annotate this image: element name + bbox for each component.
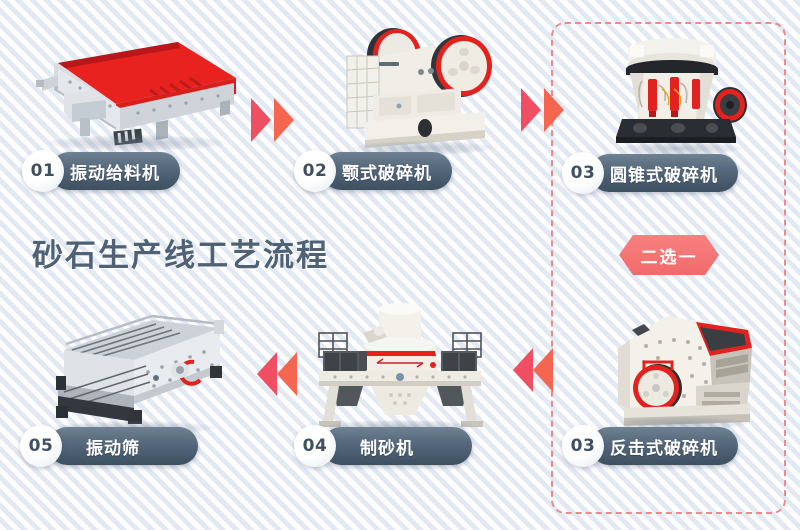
step-label-03-impact[interactable]: 03 › 反击式破碎机 <box>562 427 738 465</box>
step-label-text: 制砂机 <box>360 434 414 459</box>
vibrating-feeder-illustration <box>28 18 243 153</box>
arrow-sand-to-screen <box>257 352 300 396</box>
chevron-left-icon <box>257 352 277 396</box>
chevron-right-icon <box>521 88 541 132</box>
step-label-text: 振动筛 <box>86 434 140 459</box>
chevron-right-icon <box>544 88 564 132</box>
step-label-plate[interactable]: › 振动筛 <box>48 427 198 465</box>
flow-diagram-canvas: 01 › 振动给料机 02 › 颚式破碎机 03 › 圆锥式破碎机 03 › 反… <box>0 0 800 530</box>
chevron-left-icon <box>277 352 297 396</box>
machine-shadow <box>46 135 226 151</box>
step-label-plate[interactable]: › 圆锥式破碎机 <box>590 154 738 192</box>
step-label-text: 圆锥式破碎机 <box>610 161 718 186</box>
step-number-badge: 04 <box>294 425 336 467</box>
step-label-03-cone[interactable]: 03 › 圆锥式破碎机 <box>562 154 738 192</box>
sand-making-machine-illustration <box>305 303 495 433</box>
vibrating-screen-illustration <box>30 310 235 435</box>
machine-vibrating-screen <box>30 310 235 435</box>
page-title: 砂石生产线工艺流程 <box>32 230 329 275</box>
step-number-badge: 02 <box>294 150 336 192</box>
machine-impact-crusher <box>600 300 765 430</box>
step-number-badge: 01 <box>22 150 64 192</box>
machine-vibrating-feeder <box>28 18 243 153</box>
arrow-feeder-to-jaw <box>251 98 294 142</box>
chevron-right-icon <box>251 98 271 142</box>
chevron-left-icon <box>513 348 533 392</box>
step-label-plate[interactable]: › 颚式破碎机 <box>322 152 452 190</box>
step-label-text: 反击式破碎机 <box>610 434 718 459</box>
step-label-plate[interactable]: › 制砂机 <box>322 427 472 465</box>
machine-sand-making-machine <box>305 303 495 433</box>
step-label-05[interactable]: 05 › 振动筛 <box>20 427 198 465</box>
step-label-text: 振动给料机 <box>70 159 160 184</box>
machine-jaw-crusher <box>335 10 510 155</box>
step-number-badge: 03 <box>562 152 604 194</box>
machine-cone-crusher <box>600 15 760 155</box>
step-number-badge: 03 <box>562 425 604 467</box>
step-label-plate[interactable]: › 振动给料机 <box>50 152 180 190</box>
impact-crusher-illustration <box>600 300 765 430</box>
step-label-text: 颚式破碎机 <box>342 159 432 184</box>
chevron-right-icon <box>274 98 294 142</box>
cone-crusher-illustration <box>600 15 760 155</box>
step-label-02[interactable]: 02 › 颚式破碎机 <box>294 152 452 190</box>
step-label-01[interactable]: 01 › 振动给料机 <box>22 152 180 190</box>
arrow-jaw-to-cone <box>521 88 564 132</box>
chevron-left-icon <box>533 348 553 392</box>
choose-one-badge: 二选一 <box>619 235 719 275</box>
step-number-badge: 05 <box>20 425 62 467</box>
step-label-plate[interactable]: › 反击式破碎机 <box>590 427 738 465</box>
step-label-04[interactable]: 04 › 制砂机 <box>294 427 472 465</box>
arrow-impact-to-sand <box>513 348 556 392</box>
jaw-crusher-illustration <box>335 10 510 155</box>
